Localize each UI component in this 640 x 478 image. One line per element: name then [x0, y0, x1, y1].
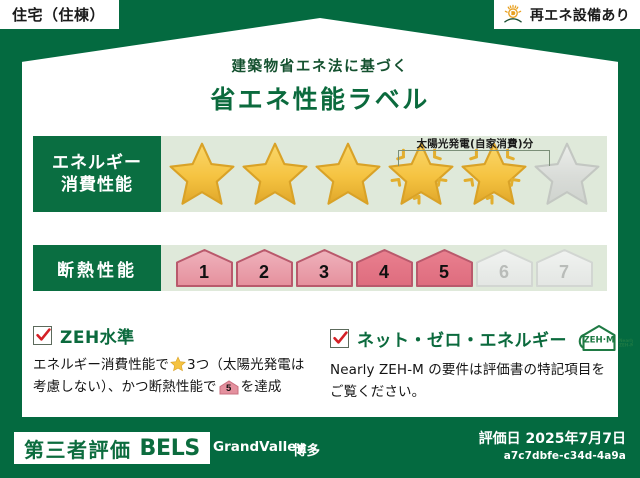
inline-house-badge-icon: 5 [219, 380, 239, 395]
solar-bracket [398, 150, 550, 166]
insulation-level-2-filled: 2 [235, 248, 294, 288]
criteria-zeh-body-post: を達成 [241, 379, 282, 395]
solar-bracket-label: 太陽光発電(自家消費)分 [390, 136, 560, 151]
insulation-level-number: 6 [499, 262, 509, 288]
criteria-nze-header: ネット・ゼロ・エネルギー ZEH·M Nearly ZEH-M [330, 323, 608, 353]
renewable-label: 再エネ設備あり [530, 5, 630, 25]
zeh-m-house-logo-icon: ZEH·M Nearly ZEH-M [575, 323, 633, 353]
star-2-filled [238, 138, 311, 210]
inline-star-icon [170, 356, 186, 372]
insulation-level-4-filled: 4 [355, 248, 414, 288]
house-type-label: 住宅（住棟） [12, 4, 105, 25]
insulation-level-7-empty: 7 [535, 248, 594, 288]
bels-certification-badge: 第三者評価 BELS [14, 432, 210, 464]
insulation-level-number: 3 [319, 262, 329, 288]
insulation-level-5-filled: 5 [415, 248, 474, 288]
inline-house-value: 5 [219, 380, 239, 395]
criteria-zeh-body: エネルギー消費性能で 3つ（太陽光発電は考慮しない）、かつ断熱性能で 5 を達成 [33, 355, 305, 399]
insulation-level-1-filled: 1 [175, 248, 234, 288]
criteria-nze-body: Nearly ZEH-M の要件は評価書の特記項目をご覧ください。 [330, 360, 608, 404]
energy-performance-label: エネルギー 消費性能 [33, 136, 161, 212]
insulation-level-3-filled: 3 [295, 248, 354, 288]
criteria-zeh-header: ZEH水準 [33, 323, 305, 348]
criteria-zeh-title: ZEH水準 [60, 323, 135, 348]
insulation-performance-row: 断熱性能 1 2 [33, 245, 607, 291]
criteria-zeh-body-pre: エネルギー消費性能で [33, 357, 169, 373]
insulation-level-6-empty: 6 [475, 248, 534, 288]
house-type-badge: 住宅（住棟） [0, 0, 119, 29]
checkbox-checked-icon [33, 326, 52, 345]
insulation-level-number: 2 [259, 262, 269, 288]
page-title: 省エネ性能ラベル [0, 80, 640, 116]
bels-jp-label: 第三者評価 [24, 434, 132, 463]
renewable-equipment-badge: 再エネ設備あり [494, 0, 640, 29]
energy-label-line1: エネルギー [52, 152, 142, 174]
footer-bar: 第三者評価 BELS GrandValley 博多 評価日 2025年7月7日 … [0, 419, 640, 478]
bels-en-label: BELS [140, 436, 200, 461]
project-area: 博多 [293, 439, 320, 459]
criteria-nze-title: ネット・ゼロ・エネルギー [357, 326, 567, 351]
svg-text:ZEH-M: ZEH-M [619, 342, 633, 347]
insulation-performance-label: 断熱性能 [33, 245, 161, 291]
evaluation-date: 評価日 2025年7月7日 [479, 428, 626, 448]
insulation-level-number: 5 [439, 262, 449, 288]
insulation-level-number: 7 [559, 262, 569, 288]
insulation-label-text: 断熱性能 [57, 256, 137, 281]
star-1-filled [165, 138, 238, 210]
insulation-level-group: 1 2 3 [161, 245, 607, 291]
criteria-net-zero-energy: ネット・ゼロ・エネルギー ZEH·M Nearly ZEH-M Nearly Z… [330, 323, 608, 404]
insulation-level-number: 1 [199, 262, 209, 288]
checkbox-checked-icon [330, 329, 349, 348]
evaluation-id: a7c7dbfe-c34d-4a9a [504, 450, 626, 462]
svg-text:ZEH·M: ZEH·M [583, 335, 614, 345]
sun-solar-icon [502, 4, 524, 26]
criteria-zeh-standard: ZEH水準 エネルギー消費性能で 3つ（太陽光発電は考慮しない）、かつ断熱性能で… [33, 323, 305, 399]
star-3-filled [311, 138, 384, 210]
energy-label-line2: 消費性能 [61, 174, 133, 196]
insulation-level-track: 1 2 3 [161, 245, 607, 291]
title-subtitle: 建築物省エネ法に基づく [0, 55, 640, 76]
insulation-level-number: 4 [379, 262, 389, 288]
title-block: 建築物省エネ法に基づく 省エネ性能ラベル [0, 55, 640, 116]
energy-performance-label: 住宅（住棟） 再エネ設備あり 建築物省エネ法に基づく [0, 0, 640, 478]
project-name: GrandValley [213, 439, 305, 455]
